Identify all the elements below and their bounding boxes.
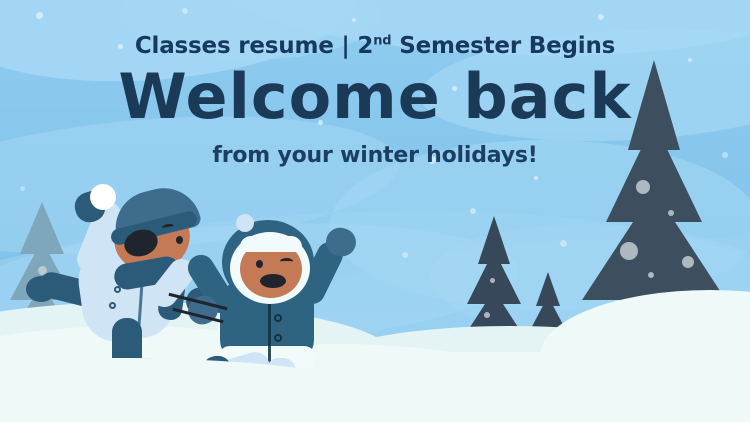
- snow-foreground: [0, 350, 750, 422]
- back-boot: [26, 276, 56, 302]
- mouth: [260, 274, 286, 288]
- eye-winking: [280, 258, 293, 265]
- snowball-in-hand: [90, 184, 116, 210]
- parka-button: [274, 314, 282, 322]
- eye: [176, 236, 183, 244]
- coat-button: [109, 302, 116, 309]
- hood-pompom: [236, 214, 254, 232]
- winter-welcome-banner: Classes resume | 2nd Semester Begins Wel…: [0, 0, 750, 422]
- hood-fur-fringe: [240, 236, 302, 252]
- eye: [256, 260, 263, 268]
- parka-button: [274, 334, 282, 342]
